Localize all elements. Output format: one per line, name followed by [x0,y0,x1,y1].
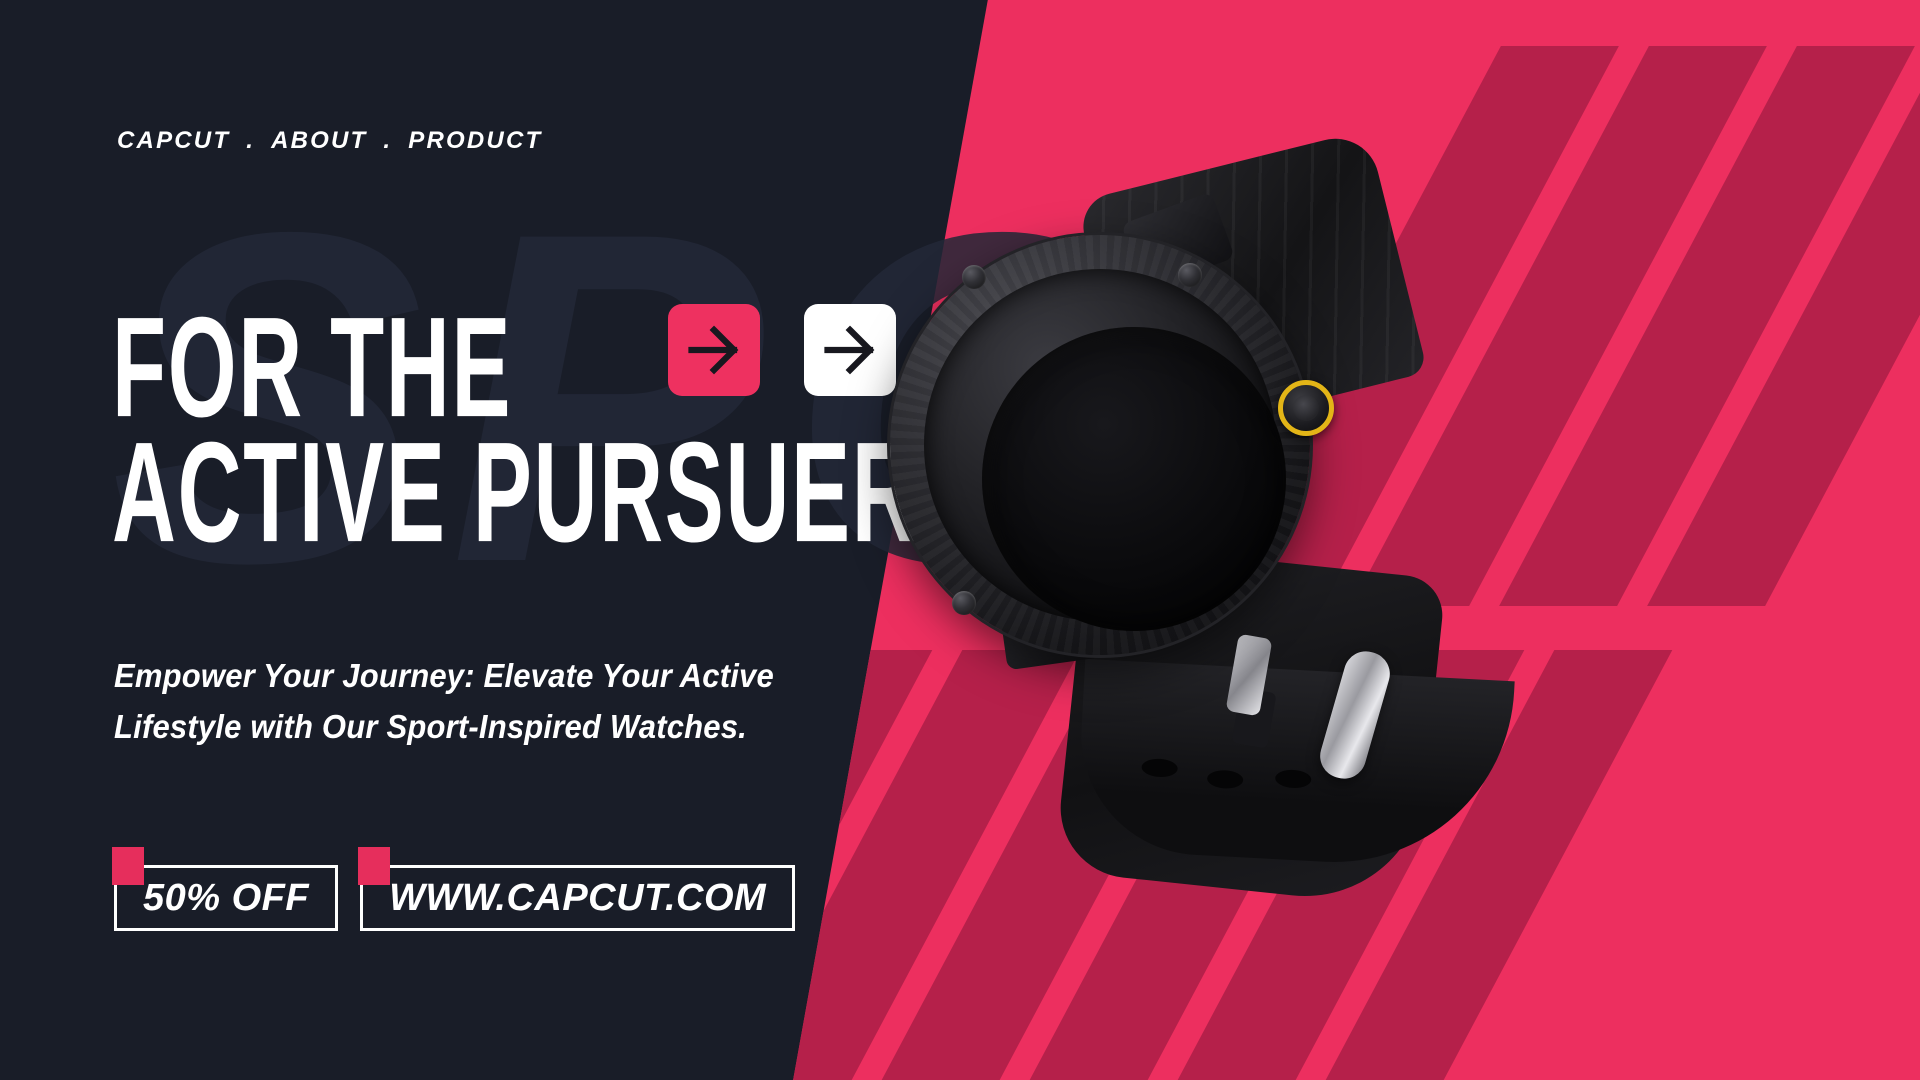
website-badge[interactable]: WWW.CAPCUT.COM [360,865,795,931]
arrow-right-button-pink[interactable] [668,304,760,396]
cta-badge-group: 50% OFF WWW.CAPCUT.COM [114,865,795,931]
nav-separator: . [230,127,271,155]
nav-item-product[interactable]: PRODUCT [408,127,542,155]
watch-case-screw [1178,263,1202,287]
discount-badge[interactable]: 50% OFF [114,865,338,931]
banner-stage: SPO CAPCUT . ABOUT . PRODUCT FOR THE [0,0,1920,1080]
badge-corner-square [358,847,390,885]
watch-case-screw [952,591,976,615]
nav-separator: . [367,127,408,155]
strap-hole [1141,758,1178,778]
watch-case [890,235,1310,655]
discount-badge-wrapper: 50% OFF [114,865,338,931]
subtitle-line-2: Lifestyle with Our Sport-Inspired Watche… [114,701,774,752]
arrow-button-group [668,304,896,396]
nav-item-capcut[interactable]: CAPCUT [117,127,230,155]
hero-subtitle: Empower Your Journey: Elevate Your Activ… [114,650,774,752]
watch-crown-button[interactable] [1278,380,1334,436]
top-navigation: CAPCUT . ABOUT . PRODUCT [117,127,542,155]
watch-strap-tail [1075,659,1514,871]
strap-hole [1275,769,1312,789]
watch-bezel [924,269,1276,621]
product-smartwatch-image [880,150,1580,910]
watch-face-display [982,327,1286,631]
watch-case-screw [962,265,986,289]
arrow-right-icon [684,320,744,380]
nav-item-about[interactable]: ABOUT [271,127,367,155]
badge-corner-square [112,847,144,885]
subtitle-line-1: Empower Your Journey: Elevate Your Activ… [114,650,774,701]
arrow-right-icon [820,320,880,380]
strap-hole [1207,769,1244,789]
headline-line-2: ACTIVE PURSUER [112,425,917,560]
website-badge-wrapper: WWW.CAPCUT.COM [360,865,795,931]
